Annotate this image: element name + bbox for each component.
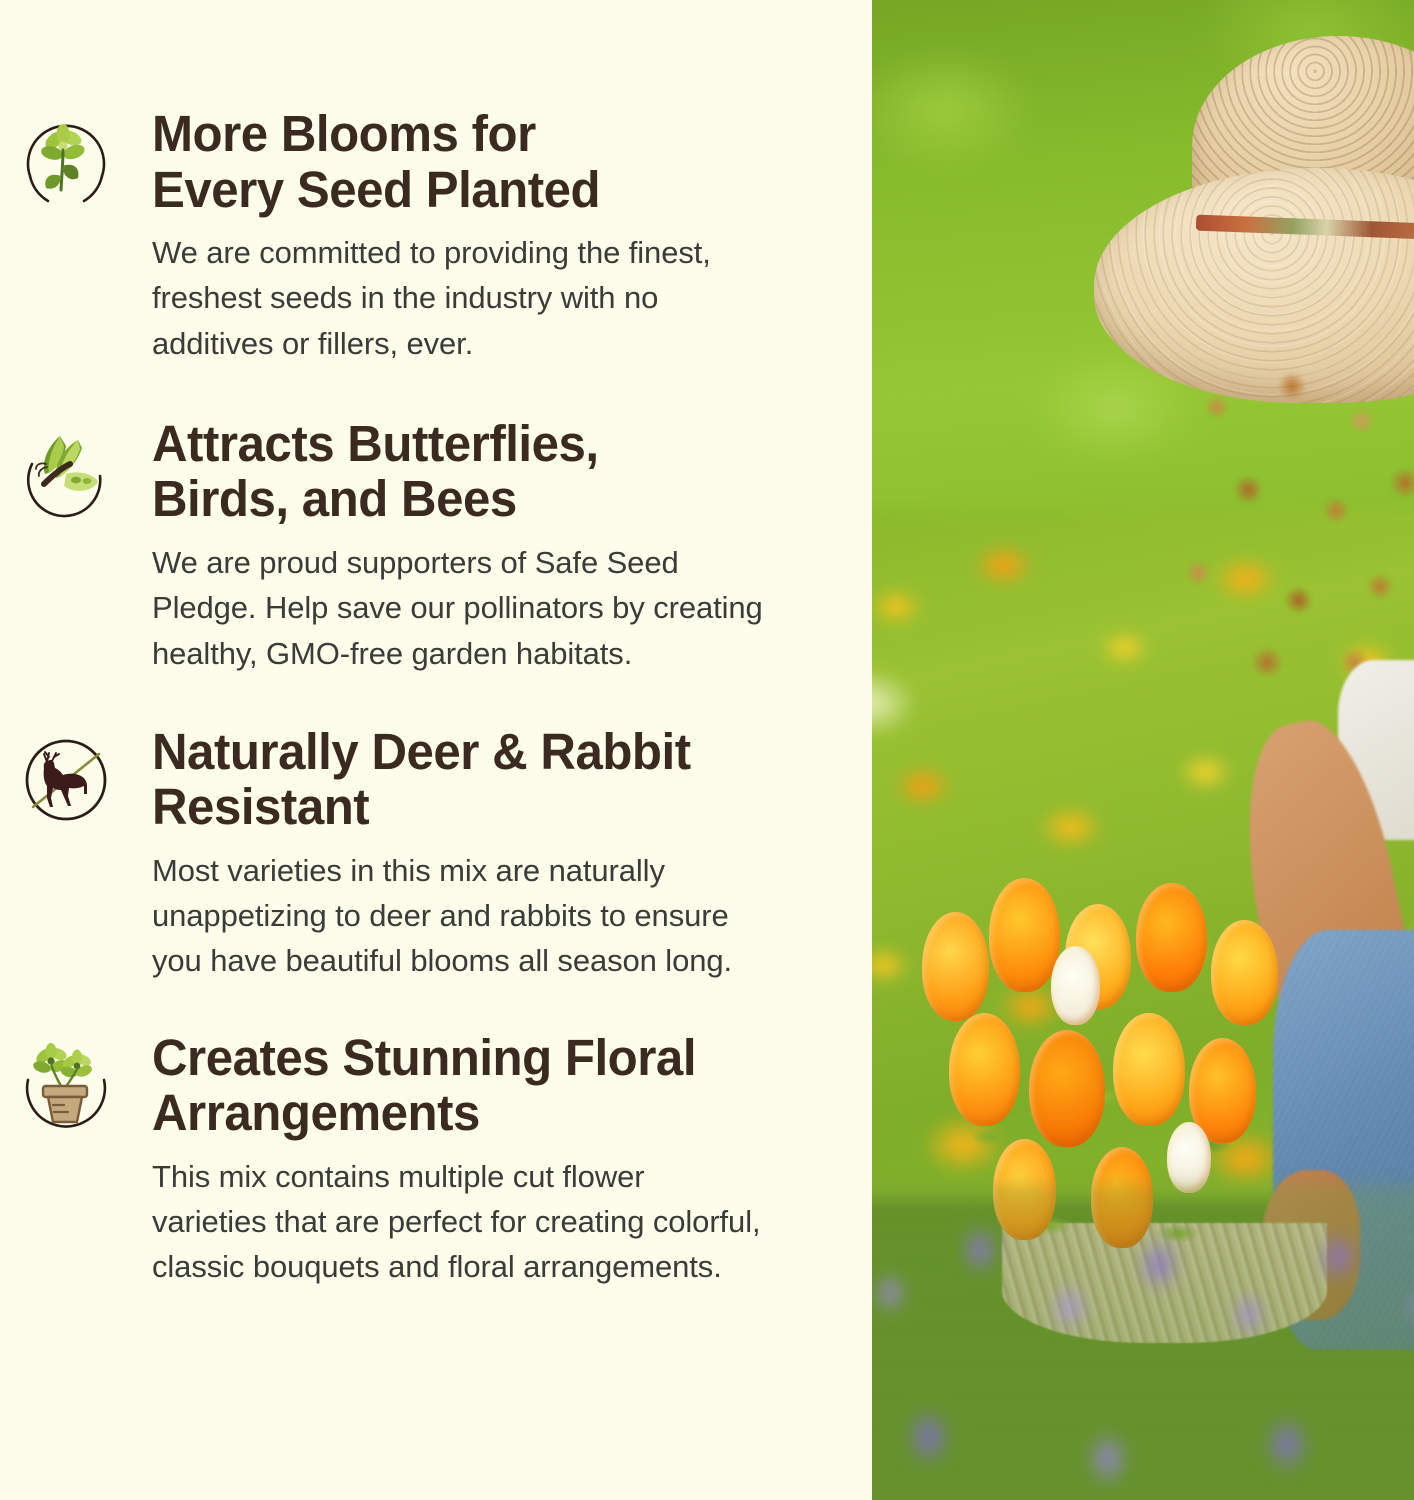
poppy-bloom <box>989 878 1060 991</box>
poppy-bloom <box>1029 1030 1105 1148</box>
potted-flowers-icon <box>14 1034 118 1138</box>
benefit-item: More Blooms for Every Seed Planted We ar… <box>14 104 842 366</box>
benefit-body: We are committed to providing the finest… <box>152 230 842 366</box>
photo-stage <box>872 0 1414 1500</box>
no-deer-icon <box>14 728 118 832</box>
benefit-body: We are proud supporters of Safe Seed Ple… <box>152 540 842 676</box>
benefit-heading: Creates Stunning Floral Arrangements <box>152 1030 818 1141</box>
poppy-bloom <box>1136 883 1207 992</box>
flower-sprout-icon <box>14 110 118 214</box>
benefit-text: Creates Stunning Floral Arrangements Thi… <box>118 1028 842 1290</box>
curly-hair <box>1154 345 1414 690</box>
butterfly-icon <box>14 420 118 524</box>
benefit-text: Attracts Butterflies, Birds, and Bees We… <box>118 414 842 676</box>
benefit-text: More Blooms for Every Seed Planted We ar… <box>118 104 842 366</box>
lifestyle-photo <box>872 0 1414 1500</box>
poppy-bloom <box>922 912 989 1021</box>
purple-wildflowers-foreground <box>872 1185 1414 1500</box>
benefit-heading: Attracts Butterflies, Birds, and Bees <box>152 416 818 527</box>
poppy-bloom <box>1113 1013 1184 1126</box>
benefit-body: This mix contains multiple cut flower va… <box>152 1154 842 1290</box>
benefit-item: Attracts Butterflies, Birds, and Bees We… <box>14 414 842 676</box>
benefit-heading: Naturally Deer & Rabbit Resistant <box>152 724 818 835</box>
poppy-bloom <box>1211 920 1278 1025</box>
benefit-item: Naturally Deer & Rabbit Resistant Most v… <box>14 722 842 984</box>
benefits-panel: More Blooms for Every Seed Planted We ar… <box>0 0 872 1500</box>
poppy-bloom <box>949 1013 1020 1126</box>
benefit-item: Creates Stunning Floral Arrangements Thi… <box>14 1028 842 1290</box>
white-poppy-bloom <box>1167 1122 1211 1193</box>
benefit-body: Most varieties in this mix are naturally… <box>152 848 842 984</box>
infographic-page: More Blooms for Every Seed Planted We ar… <box>0 0 1414 1500</box>
benefit-heading: More Blooms for Every Seed Planted <box>152 106 818 217</box>
white-poppy-bloom <box>1051 946 1100 1026</box>
benefit-text: Naturally Deer & Rabbit Resistant Most v… <box>118 722 842 984</box>
